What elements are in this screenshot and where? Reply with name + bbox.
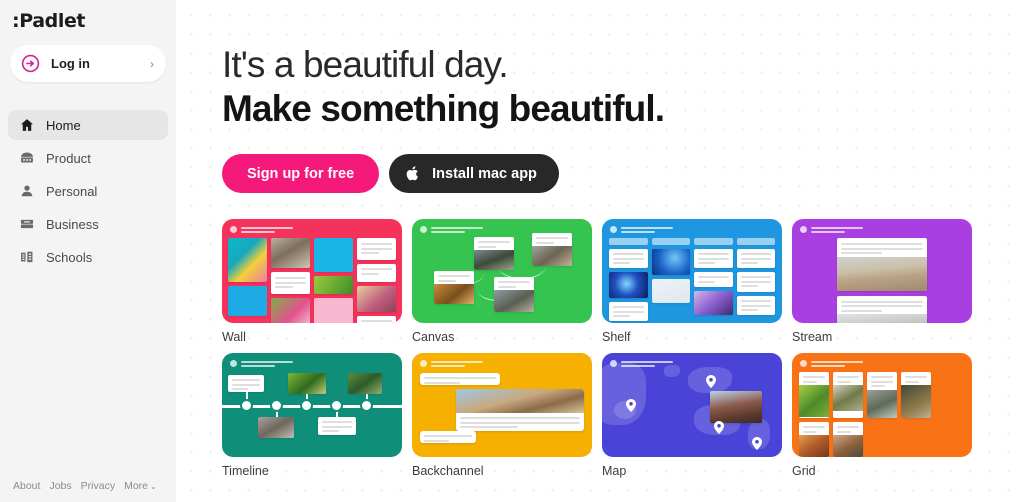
chevron-down-icon: ⌄ <box>150 482 157 491</box>
sidebar-nav: Home Product <box>0 110 176 272</box>
preview-header <box>610 226 673 233</box>
sidebar-item-business[interactable]: Business <box>8 209 168 239</box>
home-icon <box>18 117 35 134</box>
sidebar-item-product-label: Product <box>46 151 91 166</box>
login-button[interactable]: Log in › <box>10 45 166 82</box>
template-card-stream[interactable]: Stream <box>792 219 972 344</box>
avatar <box>800 226 807 233</box>
page-title: It's a beautiful day. Make something bea… <box>222 43 1024 130</box>
template-preview-stream <box>792 219 972 323</box>
chevron-right-icon: › <box>150 58 154 70</box>
preview-title-lines <box>621 361 673 367</box>
template-card-grid[interactable]: Grid <box>792 353 972 478</box>
hero-section: It's a beautiful day. Make something bea… <box>176 0 1024 130</box>
preview-title-lines <box>241 361 293 367</box>
sidebar-item-home[interactable]: Home <box>8 110 168 140</box>
schools-icon <box>18 249 35 266</box>
map-pin-icon <box>752 437 762 450</box>
template-label-shelf: Shelf <box>602 330 782 344</box>
template-label-wall: Wall <box>222 330 402 344</box>
avatar <box>610 360 617 367</box>
template-card-wall[interactable]: Wall <box>222 219 402 344</box>
preview-title-lines <box>241 227 293 233</box>
login-label: Log in <box>51 56 150 71</box>
map-pin-icon <box>706 375 716 388</box>
hero-line-1: It's a beautiful day. <box>222 43 1024 87</box>
preview-header <box>800 226 863 233</box>
hero-line-2: Make something beautiful. <box>222 87 1024 131</box>
template-label-map: Map <box>602 464 782 478</box>
avatar <box>610 226 617 233</box>
template-label-canvas: Canvas <box>412 330 592 344</box>
sidebar: :Padlet Log in › Home <box>0 0 176 502</box>
sidebar-item-schools-label: Schools <box>46 250 92 265</box>
footer-link-about[interactable]: About <box>13 480 40 492</box>
cta-group: Sign up for free Install mac app <box>176 154 1024 193</box>
template-card-timeline[interactable]: Timeline <box>222 353 402 478</box>
footer-more-label: More <box>124 480 148 492</box>
footer-link-jobs[interactable]: Jobs <box>49 480 71 492</box>
template-grid: Wall <box>176 219 1024 478</box>
template-label-stream: Stream <box>792 330 972 344</box>
avatar <box>420 226 427 233</box>
preview-title-lines <box>431 361 483 367</box>
person-icon <box>18 183 35 200</box>
preview-header <box>800 360 863 367</box>
sidebar-item-product[interactable]: Product <box>8 143 168 173</box>
product-icon <box>18 150 35 167</box>
arrow-circle-right-icon <box>21 54 40 73</box>
sidebar-item-business-label: Business <box>46 217 99 232</box>
template-label-grid: Grid <box>792 464 972 478</box>
main-content: It's a beautiful day. Make something bea… <box>176 0 1024 502</box>
template-preview-grid <box>792 353 972 457</box>
map-pin-icon <box>626 399 636 412</box>
avatar <box>230 360 237 367</box>
template-label-backchannel: Backchannel <box>412 464 592 478</box>
template-label-timeline: Timeline <box>222 464 402 478</box>
template-preview-wall <box>222 219 402 323</box>
app-root: :Padlet Log in › Home <box>0 0 1024 502</box>
preview-title-lines <box>621 227 673 233</box>
template-card-backchannel[interactable]: Backchannel <box>412 353 592 478</box>
sidebar-item-personal-label: Personal <box>46 184 97 199</box>
preview-header <box>420 360 483 367</box>
template-card-canvas[interactable]: Canvas <box>412 219 592 344</box>
apple-icon <box>406 165 421 182</box>
template-preview-timeline <box>222 353 402 457</box>
preview-header <box>420 226 483 233</box>
avatar <box>230 226 237 233</box>
install-mac-app-button[interactable]: Install mac app <box>389 154 559 193</box>
footer-link-privacy[interactable]: Privacy <box>81 480 115 492</box>
template-card-shelf[interactable]: Shelf <box>602 219 782 344</box>
template-card-map[interactable]: Map <box>602 353 782 478</box>
avatar <box>420 360 427 367</box>
sidebar-footer: About Jobs Privacy More ⌄ <box>0 480 176 492</box>
preview-title-lines <box>431 227 483 233</box>
preview-header <box>230 226 293 233</box>
sidebar-item-schools[interactable]: Schools <box>8 242 168 272</box>
preview-header <box>230 360 293 367</box>
signup-button[interactable]: Sign up for free <box>222 154 379 193</box>
template-preview-canvas <box>412 219 592 323</box>
sidebar-item-home-label: Home <box>46 118 81 133</box>
footer-link-more[interactable]: More ⌄ <box>124 480 157 492</box>
map-pin-icon <box>714 421 724 434</box>
template-preview-map <box>602 353 782 457</box>
avatar <box>800 360 807 367</box>
preview-title-lines <box>811 361 863 367</box>
template-preview-shelf <box>602 219 782 323</box>
brand-logo[interactable]: :Padlet <box>0 0 176 34</box>
business-icon <box>18 216 35 233</box>
preview-title-lines <box>811 227 863 233</box>
install-mac-app-label: Install mac app <box>432 166 537 182</box>
sidebar-item-personal[interactable]: Personal <box>8 176 168 206</box>
preview-header <box>610 360 673 367</box>
template-preview-backchannel <box>412 353 592 457</box>
